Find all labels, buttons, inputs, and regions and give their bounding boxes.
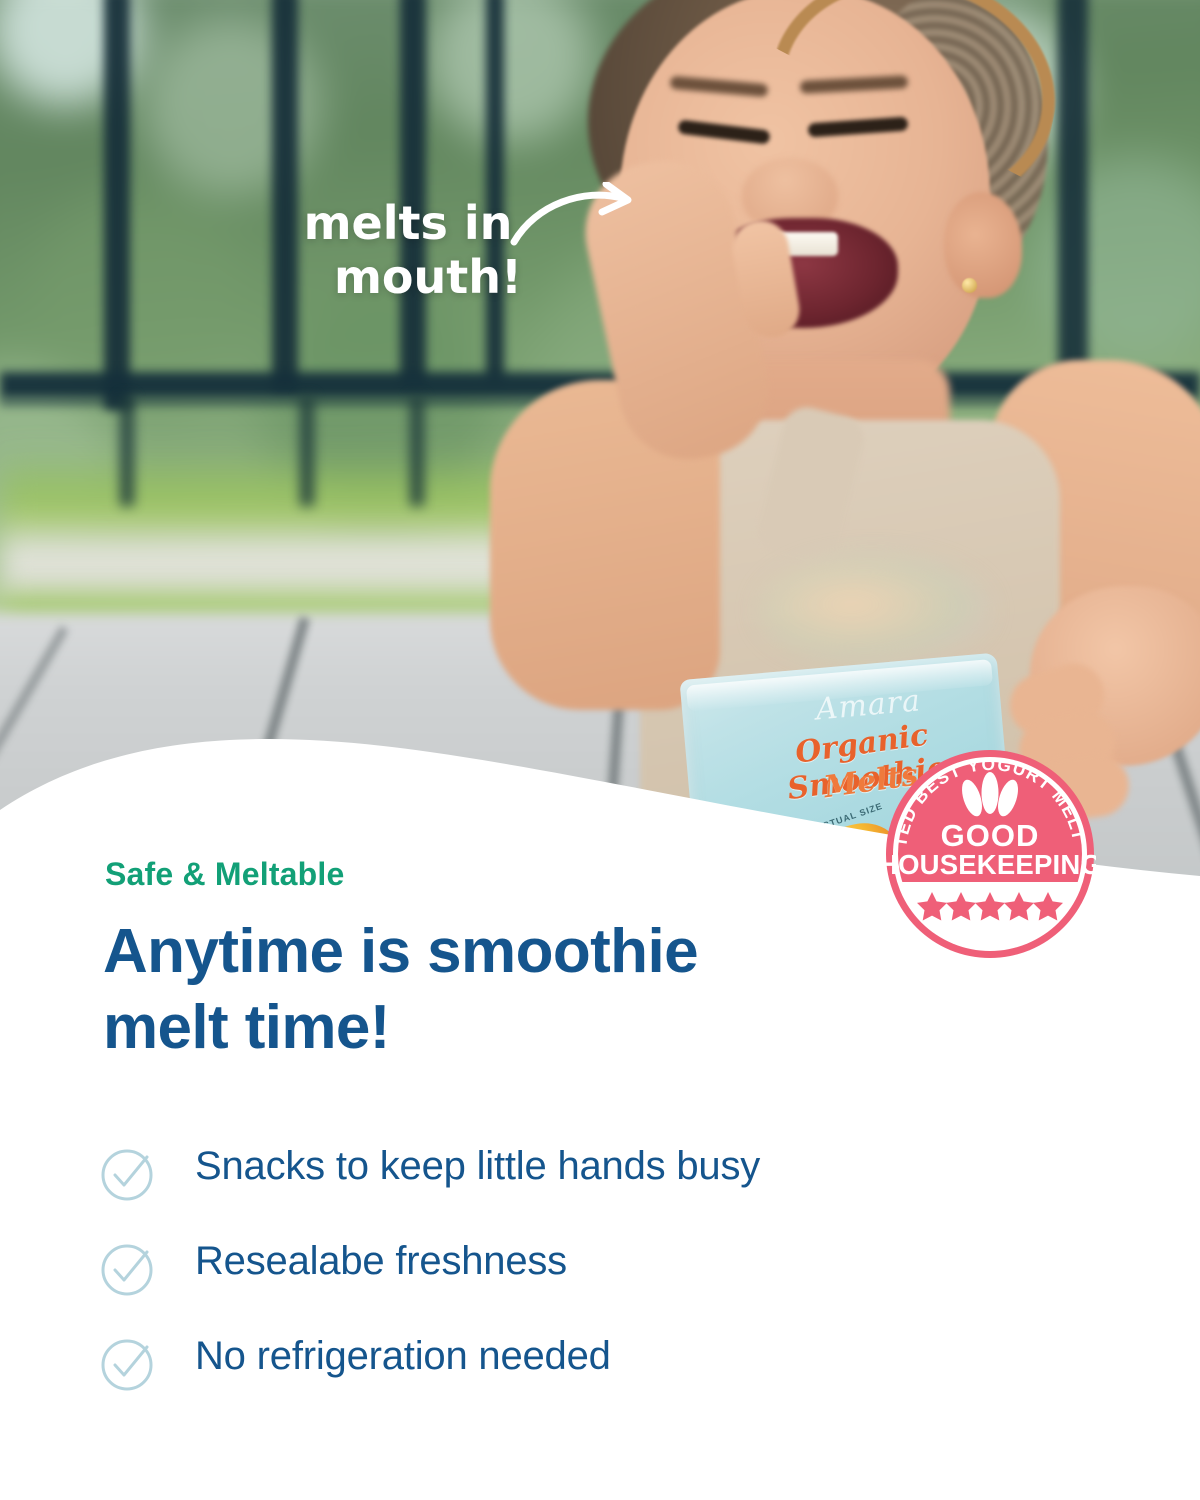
callout-line1: melts in xyxy=(304,196,513,250)
shirt-shimmer-print xyxy=(760,555,990,665)
product-feature-poster: Amara Organic Smoothie Melts ACTUAL SIZE… xyxy=(0,0,1200,1500)
fence-post xyxy=(300,396,314,506)
feature-list: Snacks to keep little hands busy Reseala… xyxy=(100,1146,1100,1431)
fence-bar xyxy=(104,0,130,410)
page-title: Anytime is smoothie melt time! xyxy=(103,914,923,1065)
list-item-label: Resealabe freshness xyxy=(195,1239,567,1284)
headline-line1: Anytime is smoothie xyxy=(103,917,698,986)
fence-bar xyxy=(272,0,298,390)
earring xyxy=(962,278,977,293)
list-item-label: Snacks to keep little hands busy xyxy=(195,1144,760,1189)
badge-title-line1: GOOD xyxy=(941,818,1040,853)
check-circle-icon xyxy=(100,1336,156,1392)
badge-title-line2: HOUSEKEEPING xyxy=(884,849,1096,880)
list-item: Resealabe freshness xyxy=(100,1241,1100,1336)
curved-arrow-right-icon xyxy=(510,182,640,260)
fence-bar xyxy=(400,0,426,385)
headline-line2: melt time! xyxy=(103,993,390,1062)
list-item: No refrigeration needed xyxy=(100,1336,1100,1431)
list-item-label: No refrigeration needed xyxy=(195,1334,611,1379)
list-item: Snacks to keep little hands busy xyxy=(100,1146,1100,1241)
fence-post xyxy=(120,396,134,506)
fence-post xyxy=(410,396,424,506)
check-circle-icon xyxy=(100,1241,156,1297)
ear xyxy=(944,192,1022,298)
check-circle-icon xyxy=(100,1146,156,1202)
eyebrow-label: Safe & Meltable xyxy=(105,856,345,893)
